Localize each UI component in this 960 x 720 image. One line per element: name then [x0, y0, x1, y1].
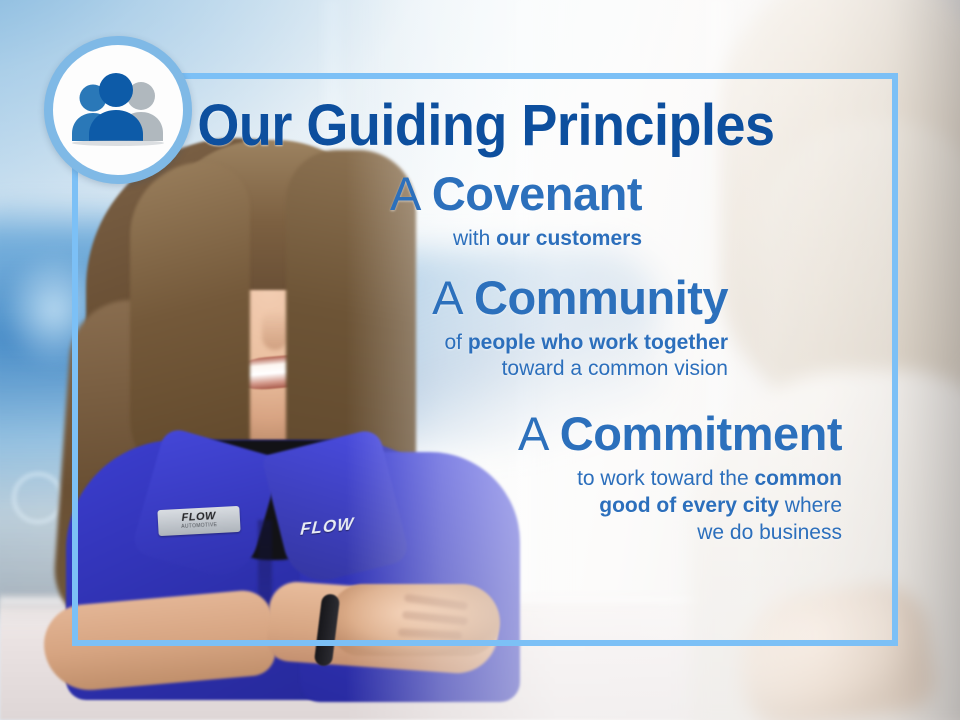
- principle-subtext: of people who work together toward a com…: [72, 330, 728, 384]
- principle-headline: A Commitment: [72, 409, 842, 459]
- content-area: Our Guiding Principles A Covenant with o…: [72, 73, 898, 646]
- principle-headline: A Covenant: [72, 169, 642, 219]
- principle-subtext-line: of people who work together: [72, 330, 728, 357]
- principle-subtext-line: with our customers: [72, 226, 642, 253]
- principle-article: A: [518, 407, 547, 460]
- principle-keyword: Covenant: [432, 167, 642, 220]
- principle-subtext-line: to work toward the common: [72, 466, 842, 493]
- principle-subtext: to work toward the common good of every …: [72, 466, 842, 547]
- principle-subtext-line: good of every city where: [72, 493, 842, 520]
- principle-covenant: A Covenant with our customers: [72, 169, 864, 253]
- principle-subtext-line: toward a common vision: [72, 356, 728, 383]
- principle-headline: A Community: [72, 273, 728, 323]
- principle-commitment: A Commitment to work toward the common g…: [72, 409, 864, 546]
- principle-keyword: Commitment: [560, 407, 842, 460]
- banner-canvas: FLOW AUTOMOTIVE FLOW: [0, 0, 960, 720]
- principle-subtext: with our customers: [72, 226, 642, 253]
- principle-article: A: [390, 167, 419, 220]
- principle-keyword: Community: [474, 271, 728, 324]
- principle-community: A Community of people who work together …: [72, 273, 864, 384]
- principle-article: A: [432, 271, 461, 324]
- principle-subtext-line: we do business: [72, 520, 842, 547]
- page-title: Our Guiding Principles: [134, 97, 837, 155]
